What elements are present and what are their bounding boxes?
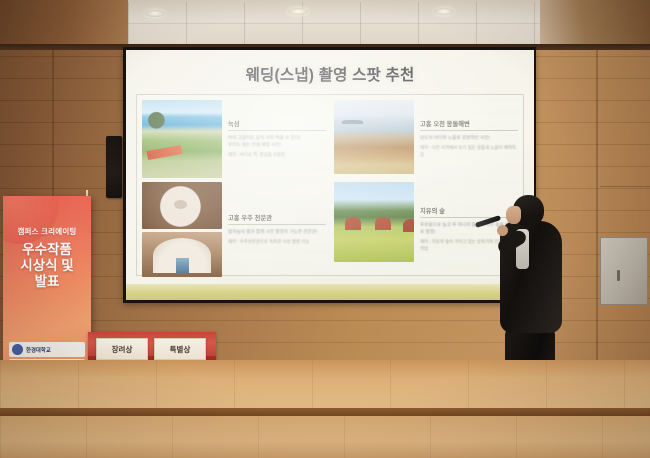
slide-bottom-band bbox=[126, 284, 534, 300]
banner-title-line-1: 우수작품 bbox=[8, 242, 86, 258]
slide-panel-nokdong: 녹섬 바위 고랑이도 같이 사진 찍을 수 있다! 우리도 앉는 인생 해질 사… bbox=[142, 100, 326, 178]
photo-field-houses bbox=[334, 182, 414, 262]
banner-text-block: 캠퍼스 크리에이팅 우수작품 시상식 및 발표 bbox=[3, 196, 91, 290]
wall-access-panel bbox=[600, 237, 648, 305]
panel-heading: 고흥 우주 천문관 bbox=[228, 213, 326, 225]
photo-observatory-dome bbox=[142, 232, 222, 277]
panel-image-stack bbox=[334, 182, 414, 277]
wall-seam bbox=[596, 50, 598, 365]
panel-heading: 녹섬 bbox=[228, 119, 326, 131]
slide-panel-observatory: 고흥 우주 천문관 밤하늘의 별과 함께 사진 촬영이 가능한 천문관! 제약 … bbox=[142, 182, 326, 277]
banner-title-line-2: 시상식 및 bbox=[8, 258, 86, 274]
stage-floor bbox=[0, 360, 650, 412]
photo-pebble-beach bbox=[334, 100, 414, 174]
wall-seam bbox=[600, 186, 650, 187]
award-placard-encouragement: 장려상 bbox=[96, 338, 148, 360]
slide: 웨딩(스냅) 촬영 스팟 추천 녹섬 바위 고랑이도 같이 사진 찍을 수 있다… bbox=[126, 50, 534, 300]
slide-title: 웨딩(스냅) 촬영 스팟 추천 bbox=[136, 63, 524, 85]
banner-title-line-3: 발표 bbox=[8, 274, 86, 290]
ceiling-light-icon bbox=[288, 8, 308, 15]
panel-body-line: 우리도 앉는 인생 해질 사진! bbox=[228, 141, 326, 148]
panel-note: 제약 : 다른 지역에서 보기 힘든 몽돌과 노을이 매력적임 bbox=[420, 145, 518, 159]
placard-label: 장려상 bbox=[112, 344, 133, 355]
wall-speaker-icon bbox=[106, 136, 122, 198]
ceiling-left-soffit bbox=[0, 0, 128, 50]
lower-floor bbox=[0, 416, 650, 458]
slide-content-grid: 녹섬 바위 고랑이도 같이 사진 찍을 수 있다! 우리도 앉는 인생 해질 사… bbox=[136, 94, 524, 276]
panel-body-line: 남도의 바다와 노을로 감성적인 사진! bbox=[420, 134, 518, 141]
panel-note: 제약 : 우주천문관으로 독특한 사진 촬영 가능 bbox=[228, 239, 326, 246]
event-banner: 캠퍼스 크리에이팅 우수작품 시상식 및 발표 한경대학교 국립순천대학교 bbox=[3, 196, 91, 378]
panel-note: 제약 : 바다로 쪽, 정장을 보정함 bbox=[228, 152, 326, 159]
university-logo-label: 한경대학교 bbox=[26, 346, 51, 354]
university-seal-icon bbox=[12, 344, 23, 355]
ceiling-light-icon bbox=[145, 10, 165, 17]
placard-label: 특별상 bbox=[170, 344, 191, 355]
panel-image-stack bbox=[334, 100, 414, 178]
presenter-hand bbox=[497, 225, 508, 236]
university-logo-1: 한경대학교 bbox=[9, 342, 85, 357]
panel-text-block: 고흥 우주 천문관 밤하늘의 별과 함께 사진 촬영이 가능한 천문관! 제약 … bbox=[228, 182, 326, 277]
screen-surface: 웨딩(스냅) 촬영 스팟 추천 녹섬 바위 고랑이도 같이 사진 찍을 수 있다… bbox=[126, 50, 534, 300]
presentation-scene: 웨딩(스냅) 촬영 스팟 추천 녹섬 바위 고랑이도 같이 사진 찍을 수 있다… bbox=[0, 0, 650, 458]
presenter-face bbox=[506, 206, 521, 224]
ceiling-tile-grid bbox=[128, 2, 540, 46]
photo-moon bbox=[142, 182, 222, 229]
projection-screen: 웨딩(스냅) 촬영 스팟 추천 녹섬 바위 고랑이도 같이 사진 찍을 수 있다… bbox=[123, 47, 536, 303]
photo-coastal-beach bbox=[142, 100, 222, 178]
panel-body-line: 바위 고랑이도 같이 사진 찍을 수 있다! bbox=[228, 134, 326, 141]
panel-text-block: 녹섬 바위 고랑이도 같이 사진 찍을 수 있다! 우리도 앉는 인생 해질 사… bbox=[228, 100, 326, 178]
panel-body-line: 밤하늘의 별과 함께 사진 촬영이 가능한 천문관! bbox=[228, 228, 326, 235]
panel-heading: 고흥 오천 몽돌해변 bbox=[420, 119, 518, 131]
slide-panel-ocheon: 고흥 오천 몽돌해변 남도의 바다와 노을로 감성적인 사진! 제약 : 다른 … bbox=[334, 100, 518, 178]
award-placard-special: 특별상 bbox=[154, 338, 206, 360]
ceiling-light-icon bbox=[434, 8, 454, 15]
panel-image-stack bbox=[142, 182, 222, 277]
access-panel-handle[interactable] bbox=[617, 270, 620, 281]
panel-text-block: 고흥 오천 몽돌해변 남도의 바다와 노을로 감성적인 사진! 제약 : 다른 … bbox=[420, 100, 518, 178]
banner-subtitle: 캠퍼스 크리에이팅 bbox=[8, 226, 86, 237]
panel-image-stack bbox=[142, 100, 222, 178]
ceiling-right-soffit bbox=[540, 0, 650, 50]
